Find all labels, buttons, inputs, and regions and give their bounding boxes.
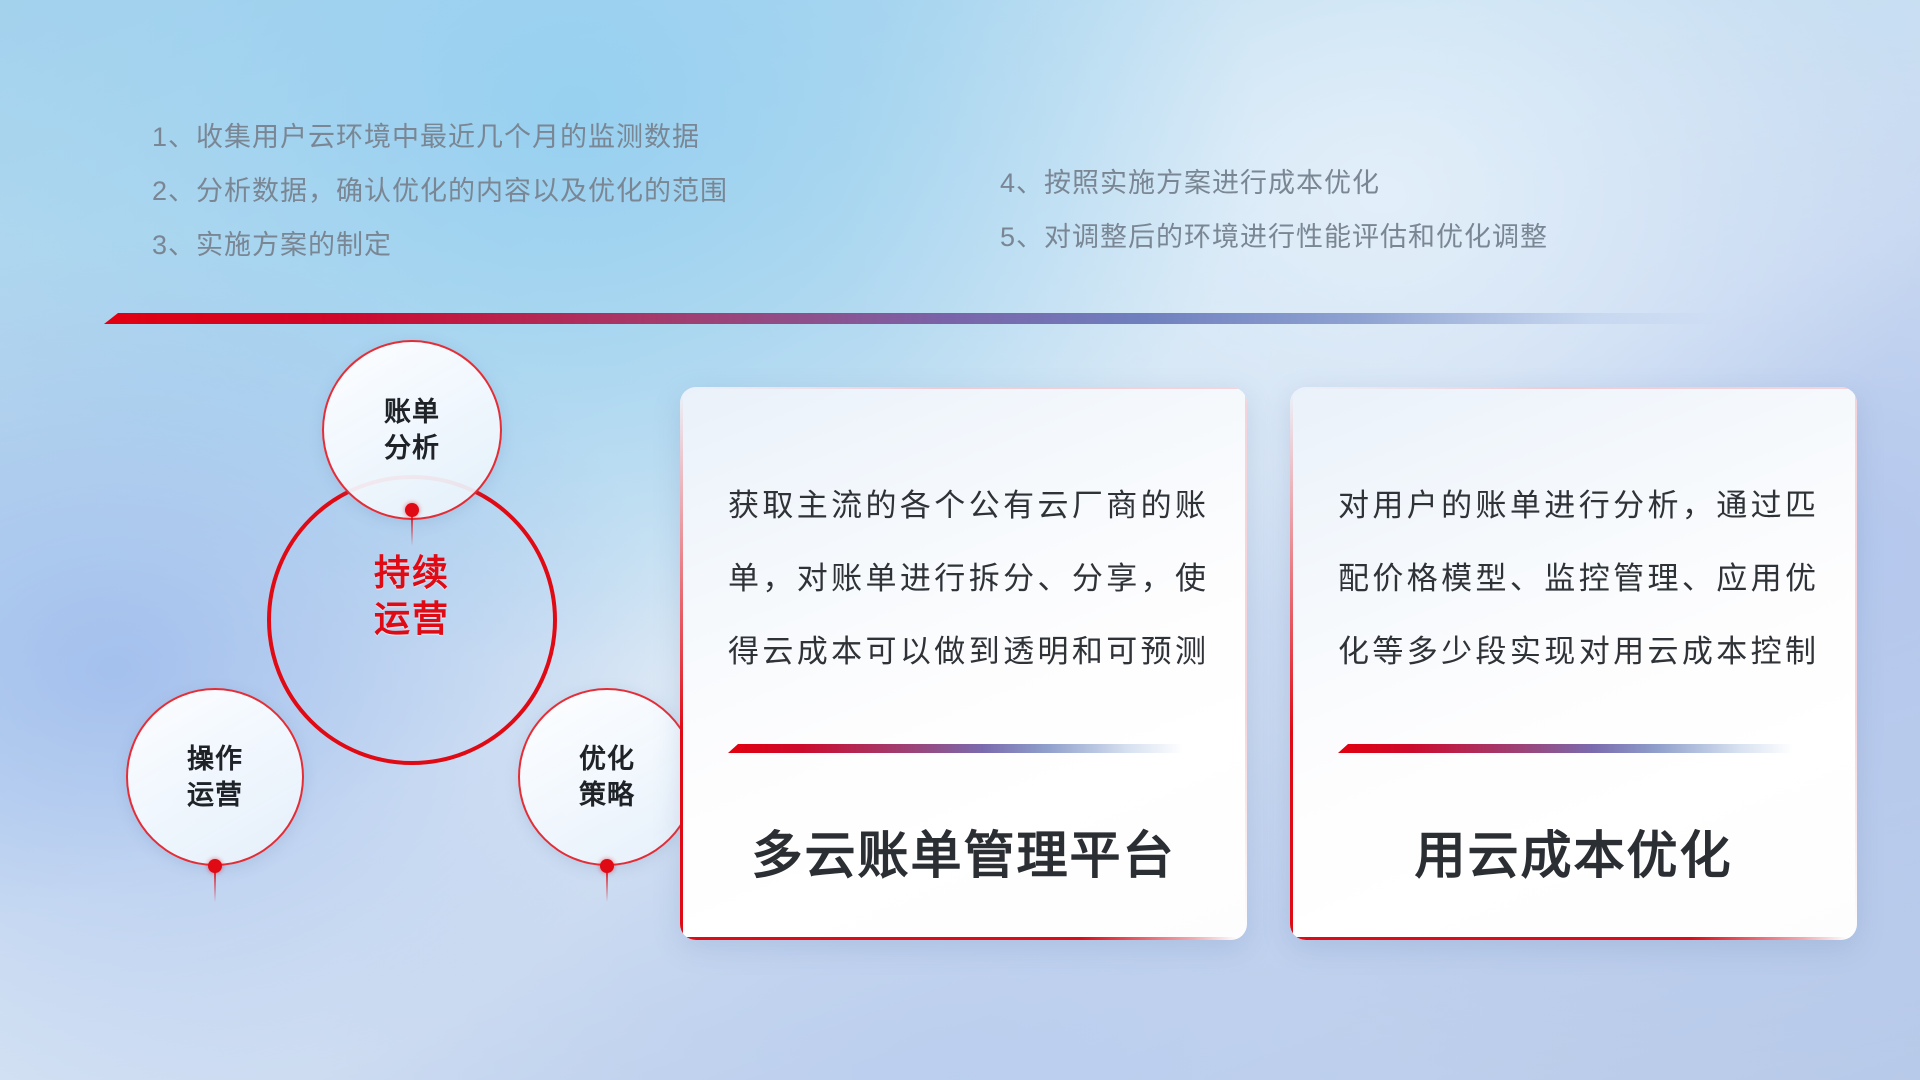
diagram-node-label-line1: 优化: [579, 741, 635, 777]
diagram-node-optimization-strategy[interactable]: 优化 策略: [518, 688, 696, 866]
diagram-center-label-line1: 持续: [267, 550, 557, 596]
bullet-item: 5、对调整后的环境进行性能评估和优化调整: [1000, 210, 1548, 264]
card-title: 多云账单管理平台: [680, 814, 1247, 888]
card-accent-rule: [1338, 744, 1793, 753]
bullet-list-left: 1、收集用户云环境中最近几个月的监测数据 2、分析数据，确认优化的内容以及优化的…: [152, 110, 728, 272]
bullet-item: 3、实施方案的制定: [152, 218, 728, 272]
feature-card-cloud-cost-optimization[interactable]: 对用户的账单进行分析，通过匹配价格模型、监控管理、应用优化等多少段实现对用云成本…: [1290, 387, 1857, 940]
diagram-node-label-line2: 策略: [579, 777, 635, 813]
card-description: 对用户的账单进行分析，通过匹配价格模型、监控管理、应用优化等多少段实现对用云成本…: [1338, 469, 1817, 688]
card-title: 用云成本优化: [1290, 814, 1857, 888]
bullet-item: 2、分析数据，确认优化的内容以及优化的范围: [152, 164, 728, 218]
card-description: 获取主流的各个公有云厂商的账单，对账单进行拆分、分享，使得云成本可以做到透明和可…: [728, 469, 1207, 688]
slide-canvas: 1、收集用户云环境中最近几个月的监测数据 2、分析数据，确认优化的内容以及优化的…: [0, 0, 1920, 1080]
diagram-node-label-line2: 运营: [187, 777, 243, 813]
diagram-node-operations[interactable]: 操作 运营: [126, 688, 304, 866]
card-accent-rule: [728, 744, 1183, 753]
diagram-center-label: 持续 运营: [267, 550, 557, 642]
diagram-connector-stem-top: [411, 516, 413, 546]
diagram-node-label-line1: 操作: [187, 741, 243, 777]
diagram-node-label: 优化 策略: [579, 741, 635, 813]
diagram-node-label-line1: 账单: [384, 394, 440, 430]
diagram-connector-dot-top: [405, 503, 419, 517]
diagram-node-billing-analysis[interactable]: 账单 分析: [322, 340, 502, 520]
diagram-connector-dot-right: [600, 859, 614, 873]
section-divider: [104, 313, 1720, 324]
bullet-item: 1、收集用户云环境中最近几个月的监测数据: [152, 110, 728, 164]
bullet-list-right: 4、按照实施方案进行成本优化 5、对调整后的环境进行性能评估和优化调整: [1000, 156, 1548, 264]
diagram-center-label-line2: 运营: [267, 596, 557, 642]
bullet-item: 4、按照实施方案进行成本优化: [1000, 156, 1548, 210]
continuous-operation-diagram: 账单 分析 操作 运营 优化 策略 持续 运营: [100, 340, 660, 960]
card-top-edge: [1298, 387, 1857, 389]
diagram-node-label: 账单 分析: [384, 394, 440, 466]
feature-card-multicloud-billing[interactable]: 获取主流的各个公有云厂商的账单，对账单进行拆分、分享，使得云成本可以做到透明和可…: [680, 387, 1247, 940]
diagram-connector-stem-left: [214, 872, 216, 902]
card-top-edge: [688, 387, 1247, 389]
diagram-node-label: 操作 运营: [187, 741, 243, 813]
diagram-connector-stem-right: [606, 872, 608, 902]
diagram-node-label-line2: 分析: [384, 430, 440, 466]
diagram-connector-dot-left: [208, 859, 222, 873]
